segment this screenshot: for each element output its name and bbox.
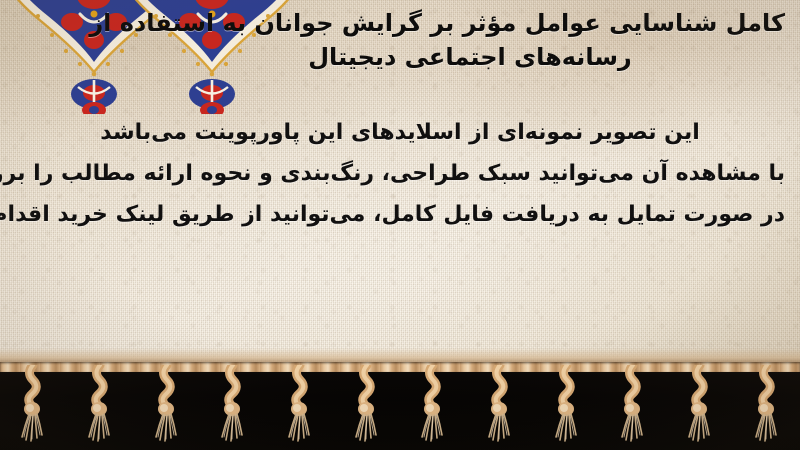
title-line-1: کامل شناسایی عوامل مؤثر بر گرایش جوانان … bbox=[210, 6, 785, 40]
title-line-2: رسانه‌های اجتماعی دیجیتال bbox=[210, 40, 785, 74]
slide-canvas: کامل شناسایی عوامل مؤثر بر گرایش جوانان … bbox=[0, 0, 800, 450]
carpet-fringe-icon bbox=[556, 365, 576, 441]
carpet-fringe-border bbox=[0, 362, 800, 450]
body-line-3: در صورت تمایل به دریافت فایل کامل، می‌تو… bbox=[15, 194, 785, 235]
carpet-fringe-icon bbox=[756, 365, 776, 441]
slide-title: کامل شناسایی عوامل مؤثر بر گرایش جوانان … bbox=[210, 6, 785, 74]
fringe-tassel bbox=[350, 365, 384, 445]
fringe-row bbox=[0, 365, 800, 447]
body-line-2: با مشاهده آن می‌توانید سبک طراحی، رنگ‌بن… bbox=[15, 153, 785, 194]
carpet-fringe-icon bbox=[489, 365, 509, 441]
slide-body: این تصویر نمونه‌ای از اسلایدهای این پاور… bbox=[15, 112, 785, 235]
fringe-tassel bbox=[283, 365, 317, 445]
fringe-tassel bbox=[16, 365, 50, 445]
carpet-fringe-icon bbox=[89, 365, 109, 441]
fringe-tassel bbox=[616, 365, 650, 445]
fringe-tassel bbox=[750, 365, 784, 445]
carpet-fringe-icon bbox=[422, 365, 442, 441]
fringe-tassel bbox=[483, 365, 517, 445]
carpet-fringe-icon bbox=[356, 365, 376, 441]
fringe-tassel bbox=[416, 365, 450, 445]
fringe-tassel bbox=[83, 365, 117, 445]
body-line-1: این تصویر نمونه‌ای از اسلایدهای این پاور… bbox=[15, 112, 785, 153]
carpet-fringe-icon bbox=[156, 365, 176, 441]
carpet-fringe-icon bbox=[22, 365, 42, 441]
fringe-tassel bbox=[550, 365, 584, 445]
carpet-fringe-icon bbox=[289, 365, 309, 441]
fringe-tassel bbox=[216, 365, 250, 445]
fringe-tassel bbox=[150, 365, 184, 445]
carpet-fringe-icon bbox=[622, 365, 642, 441]
fringe-tassel bbox=[683, 365, 717, 445]
carpet-fringe-icon bbox=[222, 365, 242, 441]
carpet-fringe-icon bbox=[689, 365, 709, 441]
